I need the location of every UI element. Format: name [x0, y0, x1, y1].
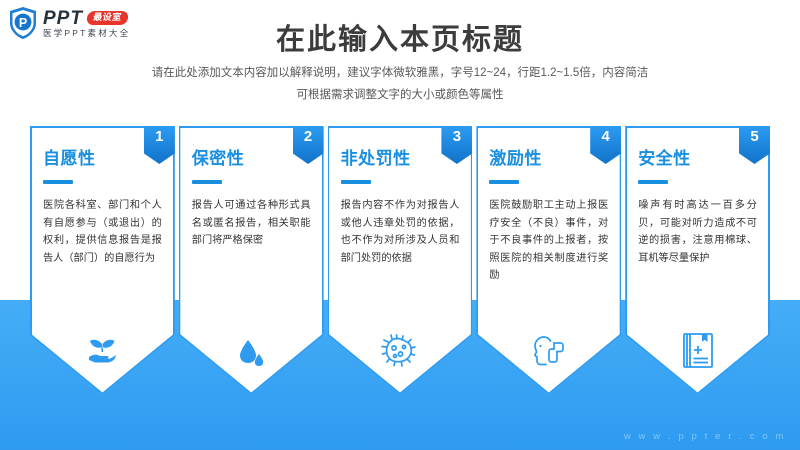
hand-leaf-icon — [30, 324, 175, 376]
logo-brand-text: PPT — [43, 9, 83, 28]
card-divider — [43, 180, 73, 184]
card-divider — [489, 180, 519, 184]
medical-book-icon — [625, 324, 770, 376]
card-text: 报告内容不作为对报告人或他人违章处罚的依据，也不作为对所涉及人员和部门处罚的依据 — [341, 197, 460, 267]
card-item[interactable]: 自愿性 医院各科室、部门和个人有自愿参与（或退出）的权利，提供信息报告是报告人（… — [30, 126, 175, 394]
card-item[interactable]: 激励性 医院鼓励职工主动上报医疗安全（不良）事件，对于不良事件的上报者，按照医院… — [476, 126, 621, 394]
card-list: 自愿性 医院各科室、部门和个人有自愿参与（或退出）的权利，提供信息报告是报告人（… — [30, 126, 770, 396]
watermark: w w w . p p t e r . c o m — [624, 431, 786, 442]
brand-logo: P PPT 最设室 医学PPT素材大全 — [8, 6, 130, 40]
card-divider — [192, 180, 222, 184]
logo-subtitle: 医学PPT素材大全 — [43, 29, 130, 38]
bacteria-icon — [328, 324, 473, 376]
water-drop-icon — [179, 324, 324, 376]
card-text: 报告人可通过各种形式具名或匿名报告，相关职能部门将严格保密 — [192, 197, 311, 250]
card-text: 医院各科室、部门和个人有自愿参与（或退出）的权利，提供信息报告是报告人（部门）的… — [43, 197, 162, 267]
logo-badge: 最设室 — [86, 11, 128, 25]
card-divider — [638, 180, 668, 184]
card-item[interactable]: 安全性 噪声有时高达一百多分贝，可能对听力造成不可逆的损害，注意用棉球、耳机等尽… — [625, 126, 770, 394]
shield-icon: P — [8, 6, 38, 40]
card-text: 医院鼓励职工主动上报医疗安全（不良）事件，对于不良事件的上报者，按照医院的相关制… — [489, 197, 608, 285]
page-subtitle: 请在此处添加文本内容加以解释说明，建议字体微软雅黑，字号12~24，行距1.2~… — [0, 63, 800, 107]
subtitle-line-1: 请在此处添加文本内容加以解释说明，建议字体微软雅黑，字号12~24，行距1.2~… — [0, 63, 800, 85]
svg-text:P: P — [19, 16, 27, 30]
card-divider — [341, 180, 371, 184]
subtitle-line-2: 可根据需求调整文字的大小或颜色等属性 — [0, 85, 800, 107]
card-text: 噪声有时高达一百多分贝，可能对听力造成不可逆的损害，注意用棉球、耳机等尽量保护 — [638, 197, 757, 267]
card-item[interactable]: 非处罚性 报告内容不作为对报告人或他人违章处罚的依据，也不作为对所涉及人员和部门… — [328, 126, 473, 394]
card-item[interactable]: 保密性 报告人可通过各种形式具名或匿名报告，相关职能部门将严格保密 2 — [179, 126, 324, 394]
face-inhaler-icon — [476, 324, 621, 376]
